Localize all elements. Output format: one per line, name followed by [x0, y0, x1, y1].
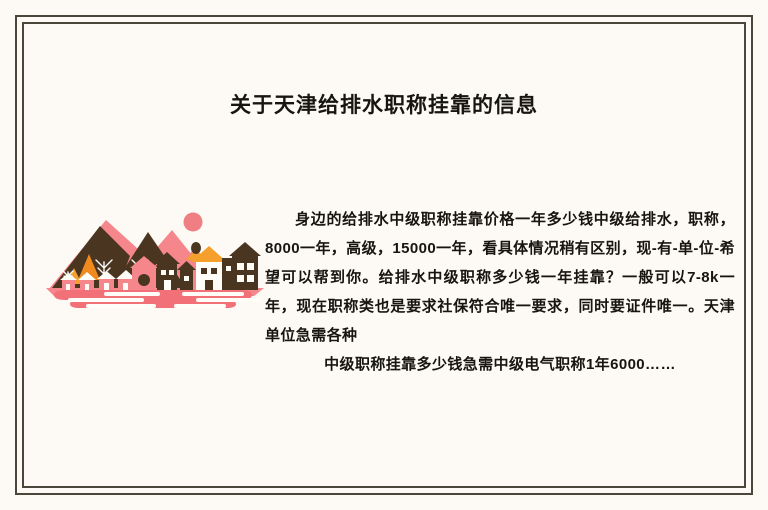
page-title: 关于天津给排水职称挂靠的信息	[0, 92, 768, 119]
sun-icon	[184, 213, 203, 232]
article-body-last-line: 中级职称挂靠多少钱急需中级电气职称1年6000……	[265, 350, 735, 379]
page-root: 关于天津给排水职称挂靠的信息	[0, 0, 768, 510]
article-body-main: 身边的给排水中级职称挂靠价格一年多少钱中级给排水，职称，8000一年，高级，15…	[265, 211, 735, 344]
article-body: 身边的给排水中级职称挂靠价格一年多少钱中级给排水，职称，8000一年，高级，15…	[265, 205, 735, 379]
cloud-band-group	[54, 290, 260, 308]
mountain-village-illustration	[44, 196, 266, 308]
